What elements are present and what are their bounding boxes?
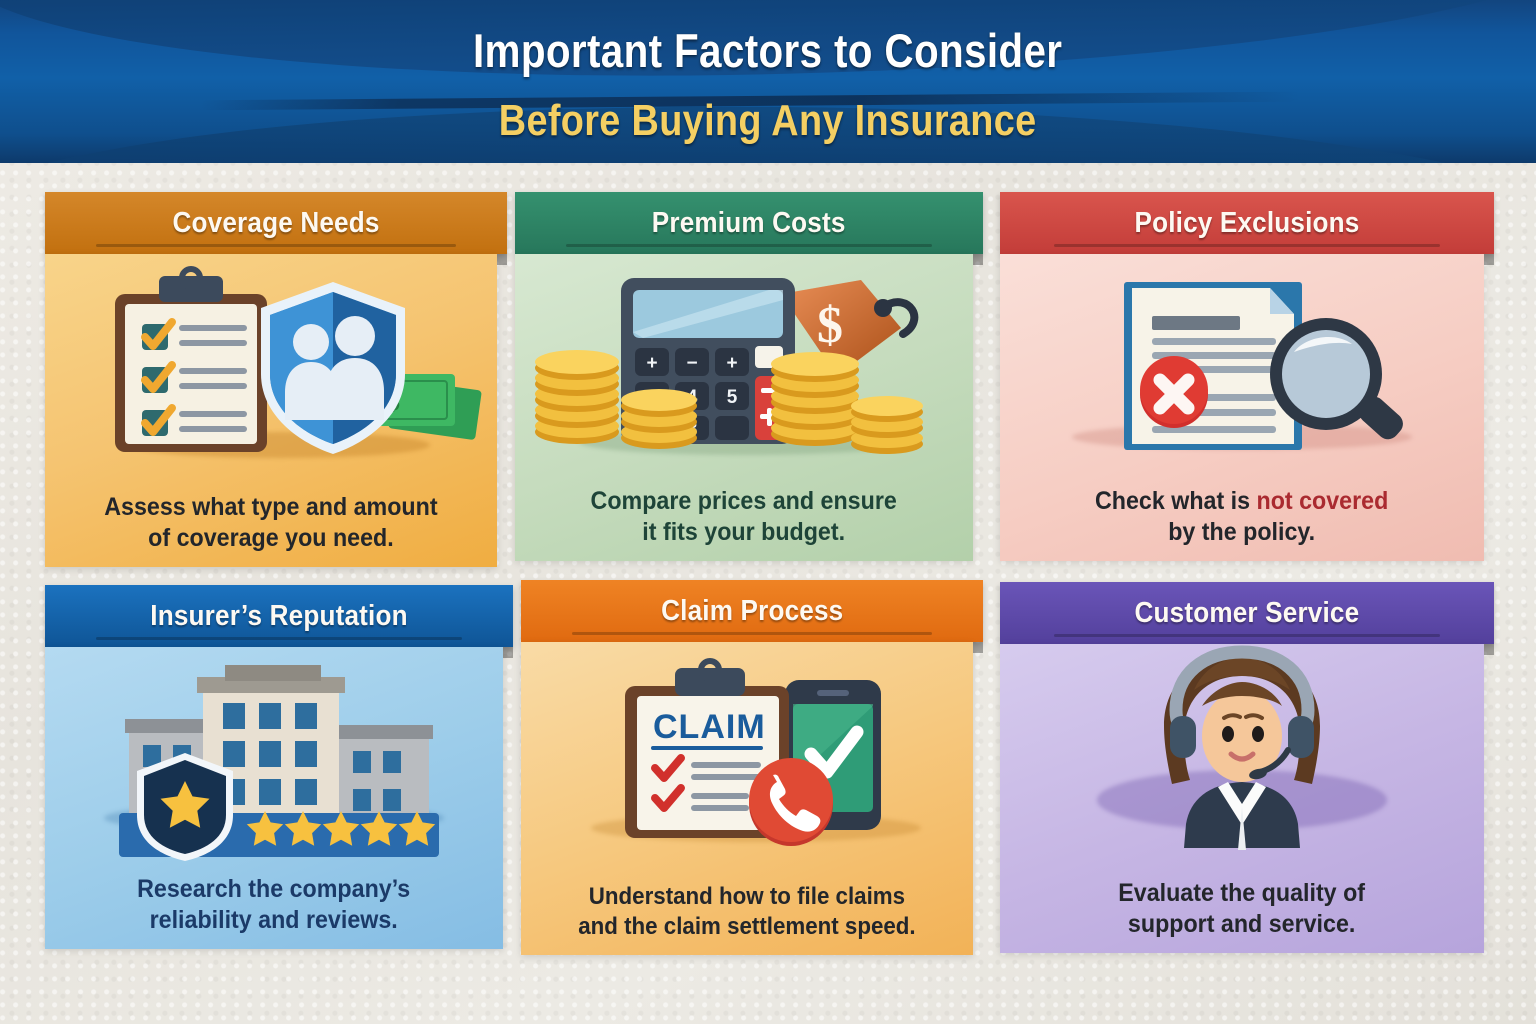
- card-caption-policy-exclusions: Check what is not covered by the policy.: [1035, 486, 1449, 547]
- card-header-coverage-needs: Coverage Needs: [45, 192, 507, 254]
- card-body-customer-service: Evaluate the quality of support and serv…: [1000, 644, 1484, 953]
- svg-text:CLAIM: CLAIM: [653, 708, 766, 746]
- card-policy-exclusions[interactable]: Policy Exclusions: [1000, 192, 1484, 561]
- card-header-claim-process: Claim Process: [521, 580, 983, 642]
- svg-text:5: 5: [727, 387, 738, 408]
- card-title: Coverage Needs: [172, 207, 379, 240]
- card-title: Customer Service: [1135, 597, 1360, 630]
- card-body-claim-process: CLAIM: [521, 642, 973, 955]
- red-x-circle-icon: [1132, 352, 1216, 436]
- header-underline: [572, 632, 932, 635]
- support-agent-headset-icon: [1132, 650, 1352, 850]
- card-header-customer-service: Customer Service: [1000, 582, 1494, 644]
- card-insurers-reputation[interactable]: Insurer’s Reputation: [45, 585, 503, 949]
- card-header-premium-costs: Premium Costs: [515, 192, 983, 254]
- caption-line1: Assess what type and amount: [104, 493, 437, 521]
- header-banner: Important Factors to Consider Before Buy…: [0, 0, 1536, 163]
- cards-grid: Coverage Needs: [0, 163, 1536, 1024]
- illustration-claim-process: CLAIM: [521, 642, 973, 836]
- card-header-policy-exclusions: Policy Exclusions: [1000, 192, 1494, 254]
- card-coverage-needs[interactable]: Coverage Needs: [45, 192, 497, 567]
- coin-stack-right-icon: [845, 374, 945, 460]
- page-title-line1: Important Factors to Consider: [473, 27, 1062, 74]
- caption-line2: it fits your budget.: [643, 518, 846, 546]
- caption-line2: reliability and reviews.: [150, 906, 398, 934]
- illustration-insurers-reputation: [45, 647, 503, 834]
- card-premium-costs[interactable]: Premium Costs $: [515, 192, 973, 561]
- shield-family-icon: [253, 278, 413, 458]
- card-customer-service[interactable]: Customer Service: [1000, 582, 1484, 953]
- card-title: Claim Process: [661, 595, 843, 628]
- caption-line1: Check what is: [1095, 487, 1257, 515]
- card-caption-premium-costs: Compare prices and ensure it fits your b…: [548, 486, 940, 547]
- caption-line1: Evaluate the quality of: [1119, 879, 1366, 907]
- illustration-customer-service: [1000, 644, 1484, 836]
- magnifier-icon: [1262, 314, 1422, 464]
- clipboard-checklist-icon: [107, 268, 277, 458]
- card-body-coverage-needs: $: [45, 254, 497, 567]
- caption-highlight: not covered: [1257, 487, 1389, 515]
- caption-line2: by the policy.: [1169, 518, 1316, 546]
- card-caption-coverage-needs: Assess what type and amount of coverage …: [78, 492, 465, 553]
- illustration-policy-exclusions: [1000, 254, 1484, 444]
- header-underline: [1054, 634, 1439, 637]
- svg-text:+: +: [726, 353, 737, 374]
- caption-line2: and the claim settlement speed.: [578, 913, 915, 940]
- card-body-policy-exclusions: Check what is not covered by the policy.: [1000, 254, 1484, 561]
- infographic-canvas: Important Factors to Consider Before Buy…: [0, 0, 1536, 1024]
- card-caption-customer-service: Evaluate the quality of support and serv…: [1035, 878, 1449, 939]
- card-caption-insurers-reputation: Research the company’s reliability and r…: [78, 874, 470, 935]
- illustration-premium-costs: $: [515, 254, 973, 444]
- caption-line1: Understand how to file claims: [589, 883, 905, 910]
- caption-line2: support and service.: [1128, 910, 1355, 938]
- illustration-coverage-needs: $: [45, 254, 497, 448]
- svg-text:−: −: [686, 353, 697, 374]
- header-underline: [96, 637, 461, 640]
- header-underline: [566, 244, 931, 247]
- card-title: Premium Costs: [652, 207, 846, 240]
- card-caption-claim-process: Understand how to file claims and the cl…: [554, 882, 941, 941]
- header-underline: [96, 244, 456, 247]
- five-stars-icon: [245, 809, 435, 853]
- page-title-line2: Before Buying Any Insurance: [499, 99, 1037, 143]
- caption-line1: Compare prices and ensure: [591, 487, 897, 515]
- card-claim-process[interactable]: Claim Process: [521, 580, 973, 955]
- phone-call-icon: [743, 754, 839, 850]
- caption-line2: of coverage you need.: [148, 524, 393, 552]
- card-body-insurers-reputation: Research the company’s reliability and r…: [45, 647, 503, 949]
- header-underline: [1054, 244, 1439, 247]
- shield-star-icon: [133, 751, 237, 863]
- caption-line1: Research the company’s: [137, 875, 410, 903]
- card-title: Policy Exclusions: [1135, 207, 1360, 240]
- card-body-premium-costs: $: [515, 254, 973, 561]
- coin-stack-small-icon: [613, 384, 723, 454]
- card-title: Insurer’s Reputation: [150, 600, 407, 633]
- card-header-insurers-reputation: Insurer’s Reputation: [45, 585, 513, 647]
